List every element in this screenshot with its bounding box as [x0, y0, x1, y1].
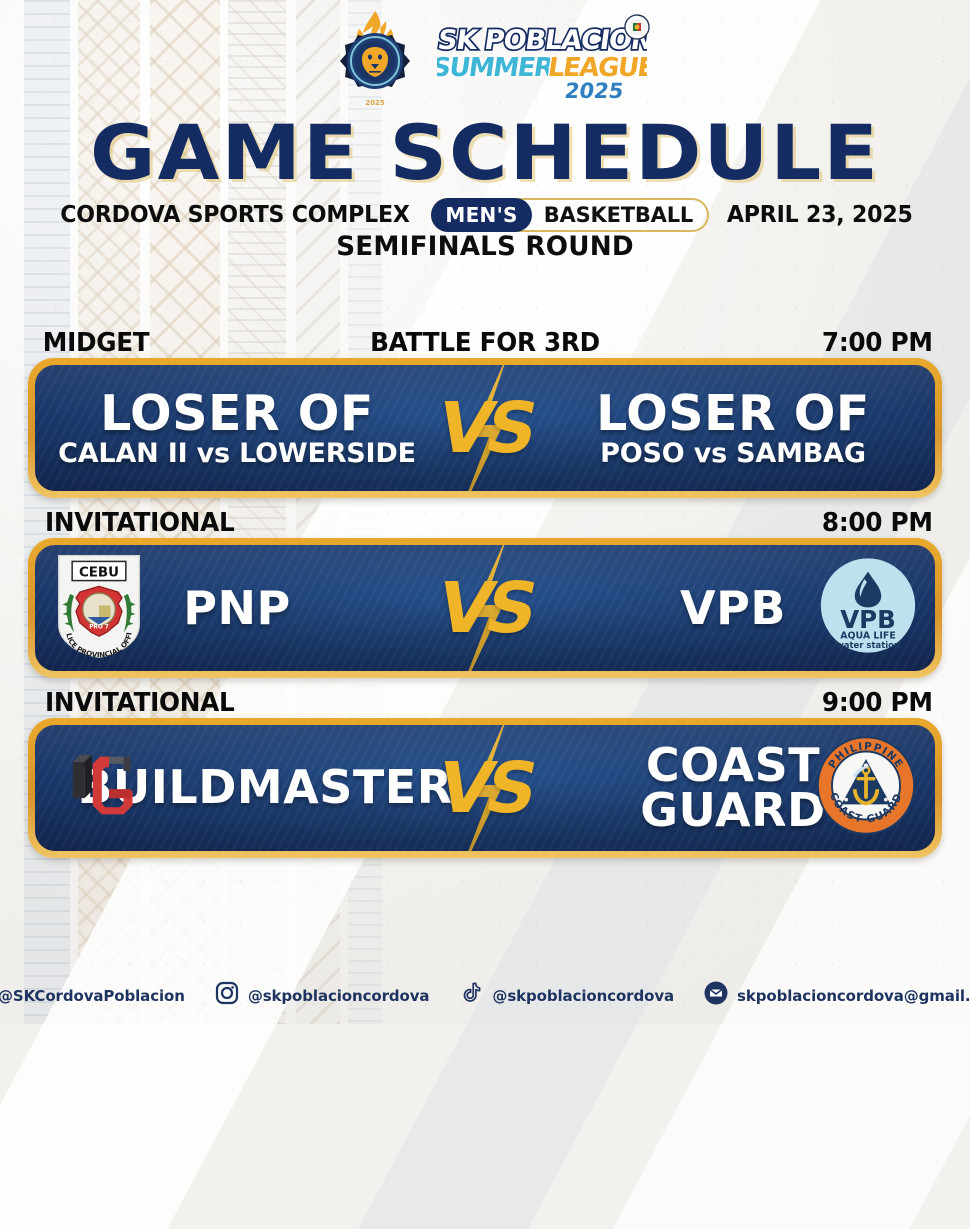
vpb-aqua-life-water-station-logo-icon: VPB AQUA LIFE water station [819, 557, 917, 660]
match-meta: MIDGET BATTLE FOR 3RD 7:00 PM [28, 326, 942, 358]
email-handle: skpoblacioncordova@gmail.com [737, 987, 970, 1005]
gender-category-label: MEN'S [431, 198, 531, 232]
email-icon [704, 981, 728, 1010]
crest-year: 2025 [365, 99, 385, 107]
philippine-coast-guard-seal-icon: PHILIPPINE COAST GUARD [815, 735, 917, 842]
team-right-name: LOSER OF [596, 389, 870, 438]
team-left-subname: CALAN II vs LOWERSIDE [58, 440, 416, 467]
instagram-icon [215, 981, 239, 1010]
team-left-name: PNP [183, 585, 290, 631]
match-card[interactable]: CEBU [28, 538, 942, 678]
social-instagram[interactable]: @skpoblacioncordova [215, 981, 430, 1010]
team-left: LOSER OF CALAN II vs LOWERSIDE [35, 365, 485, 491]
match-row: MIDGET BATTLE FOR 3RD 7:00 PM LOSER OF C… [28, 326, 942, 498]
crest-line2: water station [836, 640, 900, 650]
round-label: SEMIFINALS ROUND [15, 231, 956, 262]
buildmaster-logo-icon [53, 739, 147, 838]
division-label: INVITATIONAL [45, 690, 234, 716]
team-right: LOSER OF POSO vs SAMBAG [485, 365, 935, 491]
team-right-name: COAST GUARD [618, 743, 848, 833]
team-right-subname: POSO vs SAMBAG [596, 440, 870, 467]
match-list: MIDGET BATTLE FOR 3RD 7:00 PM LOSER OF C… [28, 326, 942, 866]
subtitle-row: CORDOVA SPORTS COMPLEX MEN'S BASKETBALL … [0, 198, 970, 232]
match-time: 7:00 PM [822, 330, 933, 356]
sport-label: BASKETBALL [532, 203, 693, 227]
facebook-handle: @SKCordovaPoblacion [0, 987, 185, 1005]
match-row: INVITATIONAL 8:00 PM CEBU [28, 506, 942, 678]
wordmark-summer: SUMMER [437, 53, 556, 83]
league-wordmark: SK POBLACION SUMMER LEAGUE 2025 [437, 19, 647, 103]
league-logo-header: 2025 SK POBLACION SUMMER LEAGUE 2025 [0, 6, 970, 116]
match-meta: INVITATIONAL 9:00 PM [28, 686, 942, 718]
tiktok-icon [459, 981, 483, 1010]
sk-poblacion-lion-crest-icon: 2025 [323, 9, 427, 113]
crest-mid-text: PRO 7 [89, 625, 109, 631]
page-title: GAME SCHEDULE [0, 108, 970, 197]
match-note: BATTLE FOR 3RD [51, 330, 919, 356]
sk-official-seal-icon [624, 14, 650, 40]
social-footer: @SKCordovaPoblacion @skpoblacioncordova … [0, 981, 970, 1010]
match-card[interactable]: LOSER OF CALAN II vs LOWERSIDE VS LOSER … [28, 358, 942, 498]
cebu-police-provincial-office-logo-icon: CEBU [53, 552, 145, 665]
team-right-name: VPB [680, 585, 786, 631]
versus-label: VS [430, 387, 540, 469]
wordmark-year: 2025 [563, 78, 625, 103]
team-left-name: LOSER OF [58, 389, 416, 438]
match-row: INVITATIONAL 9:00 PM [28, 686, 942, 858]
division-label: INVITATIONAL [45, 510, 234, 536]
tiktok-handle: @skpoblacioncordova [492, 987, 674, 1005]
crest-top-text: CEBU [79, 566, 119, 581]
social-email[interactable]: skpoblacioncordova@gmail.com [704, 981, 970, 1010]
instagram-handle: @skpoblacioncordova [248, 987, 430, 1005]
social-facebook[interactable]: @SKCordovaPoblacion [0, 981, 185, 1010]
match-time: 8:00 PM [822, 510, 933, 536]
versus-label: VS [430, 567, 540, 649]
versus-label: VS [430, 747, 540, 829]
venue-label: CORDOVA SPORTS COMPLEX [61, 202, 410, 228]
event-date: APRIL 23, 2025 [727, 202, 913, 228]
match-card[interactable]: BUILDMASTER VS COAST GUARD [28, 718, 942, 858]
match-time: 9:00 PM [822, 690, 933, 716]
social-tiktok[interactable]: @skpoblacioncordova [459, 981, 674, 1010]
match-meta: INVITATIONAL 8:00 PM [28, 506, 942, 538]
sport-category-badge: MEN'S BASKETBALL [431, 198, 709, 232]
wordmark-sk-poblacion: SK POBLACION [437, 25, 647, 56]
